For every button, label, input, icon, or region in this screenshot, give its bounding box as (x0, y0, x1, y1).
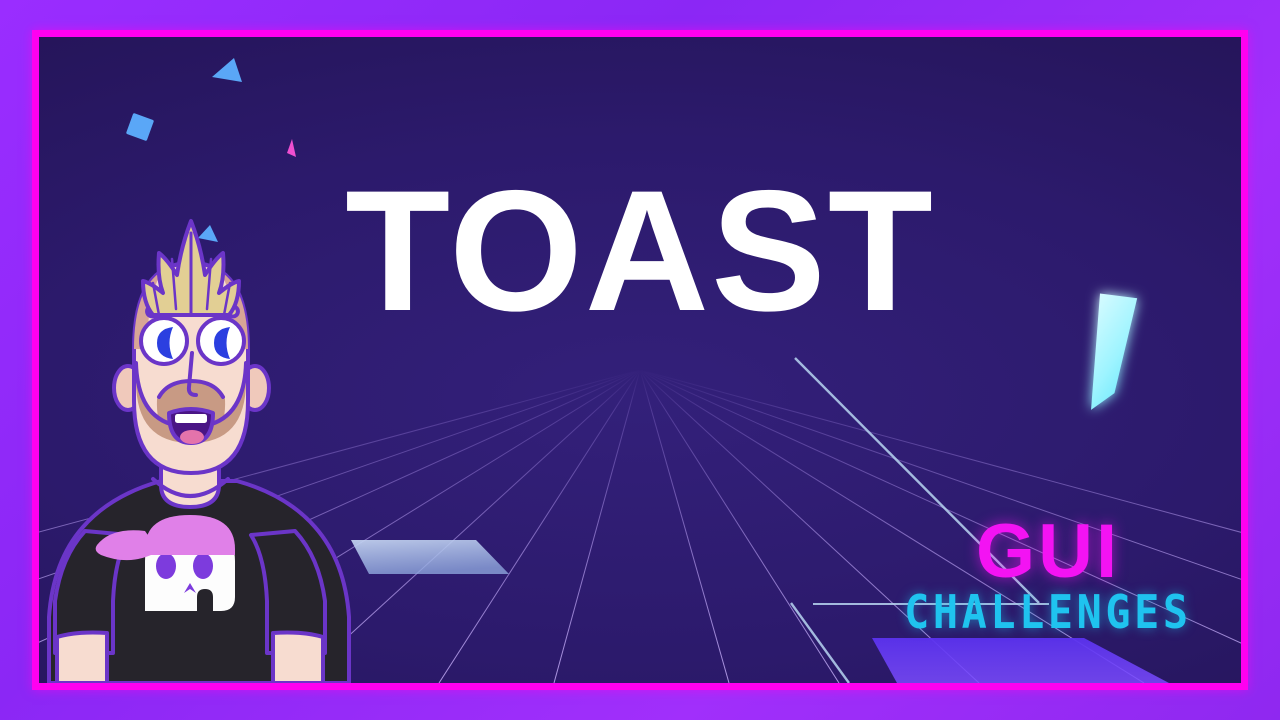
video-thumbnail: TOAST GUI CHALLENGES (0, 0, 1280, 720)
neon-border-frame (32, 30, 1248, 690)
